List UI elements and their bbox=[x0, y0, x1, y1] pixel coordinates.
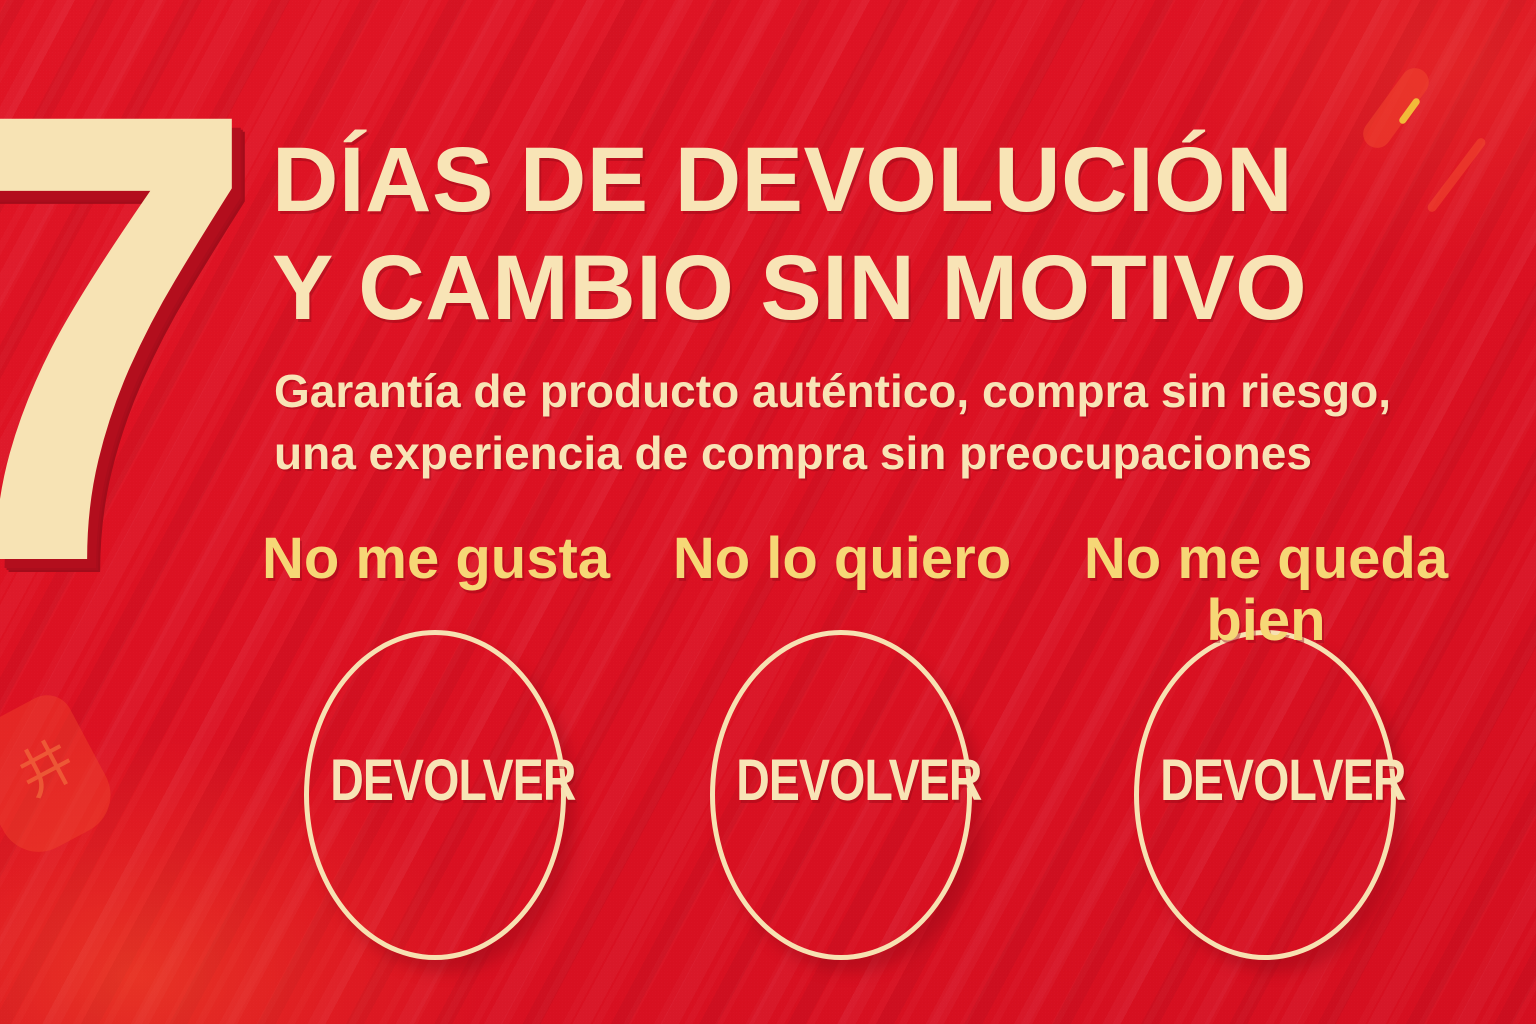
headline: DÍAS DE DEVOLUCIÓN Y CAMBIO SIN MOTIVO bbox=[272, 126, 1472, 342]
return-button-label: DEVOLVER bbox=[736, 750, 946, 812]
headline-line-2: Y CAMBIO SIN MOTIVO bbox=[272, 234, 1472, 342]
reason-card[interactable]: No me gusta DEVOLVER bbox=[246, 528, 626, 998]
return-button-label: DEVOLVER bbox=[1160, 750, 1370, 812]
subtitle: Garantía de producto auténtico, compra s… bbox=[274, 360, 1454, 484]
reason-list: No me gusta DEVOLVER No lo quiero DEVOLV… bbox=[246, 528, 1516, 998]
reason-label: No me gusta bbox=[246, 528, 626, 590]
promo-banner: 井 7 DÍAS DE DEVOLUCIÓN Y CAMBIO SIN MOTI… bbox=[0, 0, 1536, 1024]
subtitle-line-1: Garantía de producto auténtico, compra s… bbox=[274, 360, 1454, 422]
headline-line-1: DÍAS DE DEVOLUCIÓN bbox=[272, 126, 1472, 234]
return-button-label: DEVOLVER bbox=[330, 750, 540, 812]
reason-label: No me queda bien bbox=[1076, 528, 1456, 652]
days-numeral-text: 7 bbox=[0, 58, 250, 618]
days-numeral: 7 bbox=[0, 58, 234, 618]
reason-card[interactable]: No lo quiero DEVOLVER bbox=[652, 528, 1032, 998]
reason-card[interactable]: No me queda bien DEVOLVER bbox=[1076, 528, 1456, 998]
reason-label: No lo quiero bbox=[652, 528, 1032, 590]
subtitle-line-2: una experiencia de compra sin preocupaci… bbox=[274, 422, 1454, 484]
